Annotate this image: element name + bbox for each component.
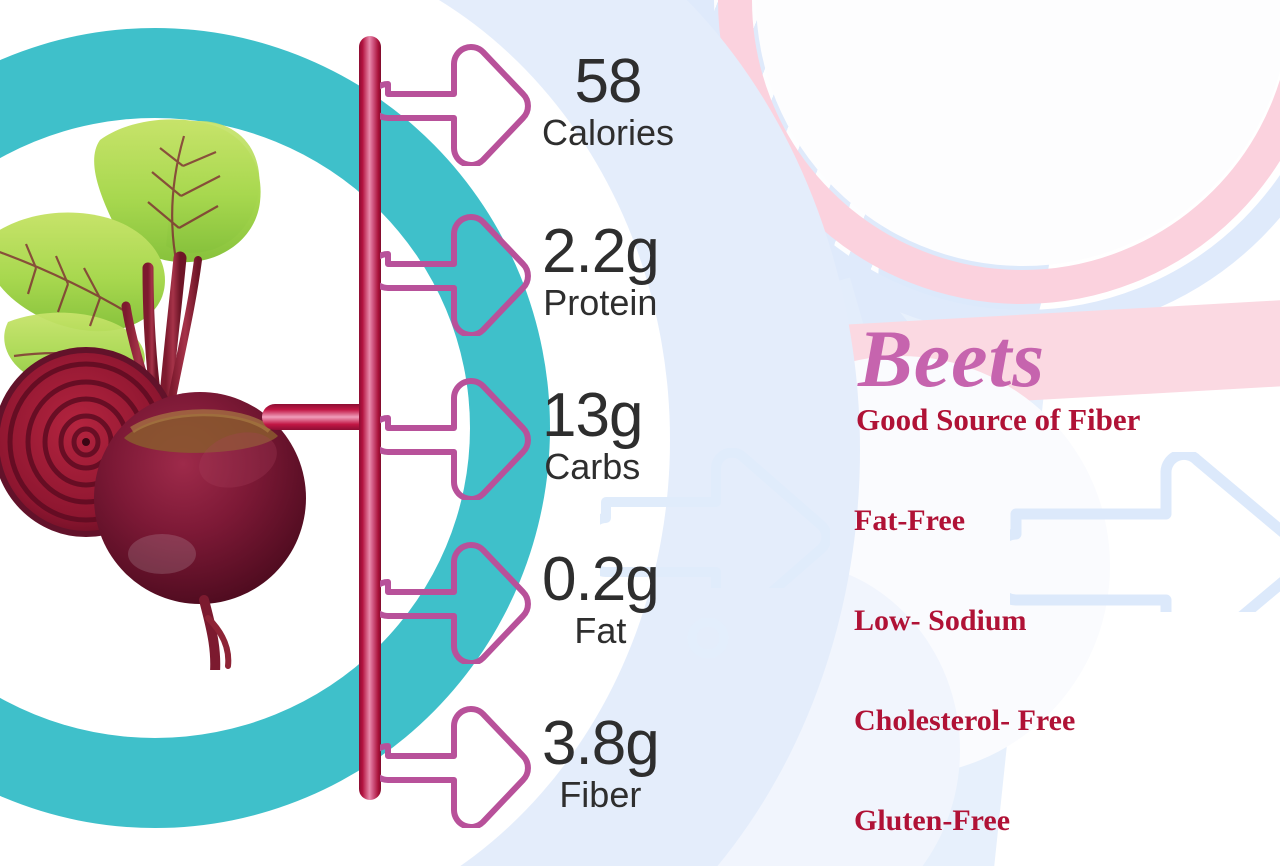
- nutrition-value: 2.2g: [542, 221, 659, 283]
- rod-stub: [262, 404, 372, 430]
- nutrition-row-fiber[interactable]: 3.8g Fiber: [380, 688, 710, 838]
- nutrition-value: 13g: [542, 385, 642, 447]
- nutrition-label: Fat: [542, 613, 659, 649]
- nutrition-text-carbs: 13g Carbs: [542, 385, 642, 485]
- benefit-item-cholesterol-free: Cholesterol- Free: [854, 704, 1280, 738]
- nutrition-text-fat: 0.2g Fat: [542, 549, 659, 649]
- nutrition-value: 58: [542, 51, 674, 113]
- nutrition-list: 58 Calories 2.2g Protein 13g: [380, 0, 720, 866]
- benefit-item-fiber: Good Source of Fiber: [856, 402, 1280, 438]
- nutrition-infographic: 58 Calories 2.2g Protein 13g: [0, 0, 1280, 866]
- nutrition-text-calories: 58 Calories: [542, 51, 674, 151]
- benefit-item-low-sodium: Low- Sodium: [854, 604, 1280, 638]
- arrow-right-icon: [380, 206, 532, 336]
- arrow-right-icon: [380, 698, 532, 828]
- nutrition-row-fat[interactable]: 0.2g Fat: [380, 524, 710, 674]
- benefit-item-fat-free: Fat-Free: [854, 504, 1280, 538]
- spacer: [840, 638, 1280, 704]
- nutrition-label: Fiber: [542, 777, 659, 813]
- nutrition-label: Protein: [542, 285, 659, 321]
- spacer: [840, 538, 1280, 604]
- arrow-right-icon: [380, 534, 532, 664]
- nutrition-text-fiber: 3.8g Fiber: [542, 713, 659, 813]
- nutrition-label: Calories: [542, 115, 674, 151]
- spacer: [840, 438, 1280, 504]
- benefits-panel: Beets Good Source of Fiber Fat-Free Low-…: [840, 320, 1280, 838]
- page-title: Beets: [858, 320, 1280, 398]
- nutrition-text-protein: 2.2g Protein: [542, 221, 659, 321]
- nutrition-row-carbs[interactable]: 13g Carbs: [380, 360, 710, 510]
- vertical-rod: [359, 36, 381, 800]
- spacer: [840, 738, 1280, 804]
- arrow-right-icon: [380, 370, 532, 500]
- nutrition-row-calories[interactable]: 58 Calories: [380, 26, 710, 176]
- beet-photo: [0, 110, 310, 670]
- nutrition-row-protein[interactable]: 2.2g Protein: [380, 196, 710, 346]
- nutrition-label: Carbs: [542, 449, 642, 485]
- benefit-item-gluten-free: Gluten-Free: [854, 804, 1280, 838]
- arrow-right-icon: [380, 36, 532, 166]
- nutrition-value: 3.8g: [542, 713, 659, 775]
- nutrition-value: 0.2g: [542, 549, 659, 611]
